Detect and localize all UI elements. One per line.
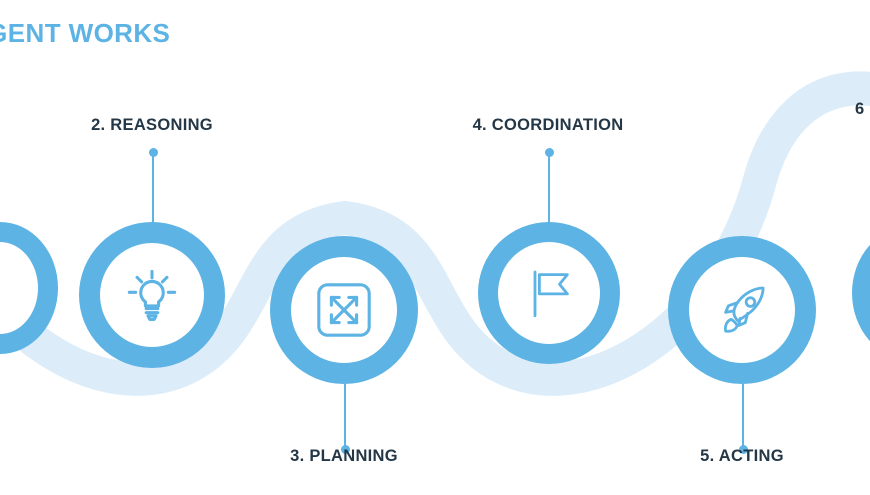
rocket-icon	[712, 280, 772, 340]
expand-arrows-icon	[313, 279, 375, 341]
step-node-acting[interactable]	[668, 236, 816, 384]
step-node-coordination[interactable]	[478, 222, 620, 364]
step-label-planning: 3. PLANNING	[290, 447, 398, 466]
connector-stem-coordination	[548, 152, 550, 228]
step-node-6[interactable]	[852, 226, 870, 360]
step-label-6: 6	[855, 100, 864, 119]
step-node-reasoning[interactable]	[79, 222, 225, 368]
lightbulb-icon	[123, 266, 181, 324]
step-node-1[interactable]	[0, 222, 58, 354]
flag-icon	[521, 265, 577, 321]
step-node-planning[interactable]	[270, 236, 418, 384]
step-label-coordination: 4. COORDINATION	[473, 116, 624, 135]
connector-dot-coordination	[545, 148, 554, 157]
connector-dot-reasoning	[149, 148, 158, 157]
connector-stem-planning	[344, 384, 346, 450]
connector-stem-acting	[742, 384, 744, 450]
infographic-canvas: AGENT WORKS 2. REASONING	[0, 0, 870, 495]
step-label-reasoning: 2. REASONING	[91, 116, 213, 135]
page-title: AGENT WORKS	[0, 18, 170, 49]
step-label-acting: 5. ACTING	[700, 447, 784, 466]
connector-stem-reasoning	[152, 152, 154, 228]
